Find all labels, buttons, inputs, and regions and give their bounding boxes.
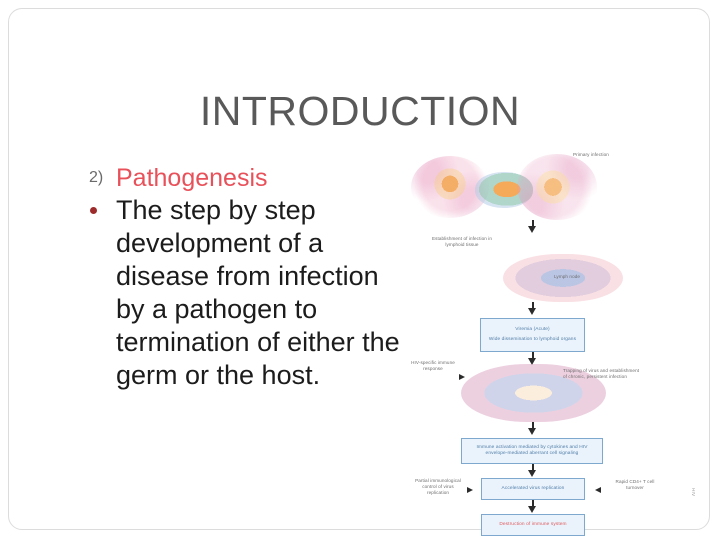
diagram-box-destruction-text: Destruction of immune system (499, 522, 566, 528)
page-title: INTRODUCTION (0, 88, 720, 135)
arrow-head-5 (528, 470, 536, 477)
body-content: 2) Pathogenesis The step by step develop… (86, 164, 406, 392)
diagram-label-trapping-virus: Trapping of virus and establishment of c… (563, 368, 643, 380)
heading-marker: 2) (86, 164, 116, 192)
bullet-list-item: The step by step development of a diseas… (86, 194, 406, 392)
slide: INTRODUCTION 2) Pathogenesis The step by… (0, 0, 720, 540)
diagram-label-partial-control: Partial immunological control of virus r… (413, 478, 463, 496)
heading-label: Pathogenesis (116, 164, 268, 192)
diagram-label-rapid-cd4-turnover: Rapid CD4+ T cell turnover (609, 479, 661, 491)
diagram-label-primary-infection: Primary infection (573, 152, 693, 158)
diagram-box-accelerated-replication: Accelerated virus replication (481, 478, 585, 500)
pathogenesis-diagram: Primary infection Establishment of infec… (405, 146, 700, 511)
virus-cluster-right-illustration (517, 154, 597, 220)
diagram-box-immune-activation: Immune activation mediated by cytokines … (461, 438, 603, 464)
diagram-box-destruction: Destruction of immune system (481, 514, 585, 536)
diagram-label-establishment: Establishment of infection in lymphoid t… (427, 236, 497, 248)
diagram-box-viremia: Viremia (Acute) Wide dissemination to ly… (480, 318, 585, 352)
arrow-head-2 (528, 308, 536, 315)
diagram-label-hiv-specific-response: HIV-specific immune response (409, 360, 457, 372)
arrow-head-hiv-response (459, 374, 465, 380)
arrow-head-cd4-turnover (595, 487, 601, 493)
bullet-dot-icon (86, 194, 116, 228)
heading-list-item: 2) Pathogenesis (86, 164, 406, 192)
diagram-credit: HIV (691, 488, 696, 496)
diagram-label-lymph-node: Lymph node (545, 274, 589, 280)
arrow-head-6 (528, 506, 536, 513)
arrow-head-partial-control (467, 487, 473, 493)
bullet-paragraph: The step by step development of a diseas… (116, 194, 406, 392)
diagram-box-viremia-line2: Wide dissemination to lymphoid organs (489, 337, 576, 343)
diagram-box-viremia-line1: Viremia (Acute) (515, 327, 549, 333)
diagram-box-immune-activation-text: Immune activation mediated by cytokines … (465, 445, 599, 458)
arrow-head-1 (528, 226, 536, 233)
arrow-head-4 (528, 428, 536, 435)
diagram-box-accelerated-replication-text: Accelerated virus replication (502, 486, 565, 492)
